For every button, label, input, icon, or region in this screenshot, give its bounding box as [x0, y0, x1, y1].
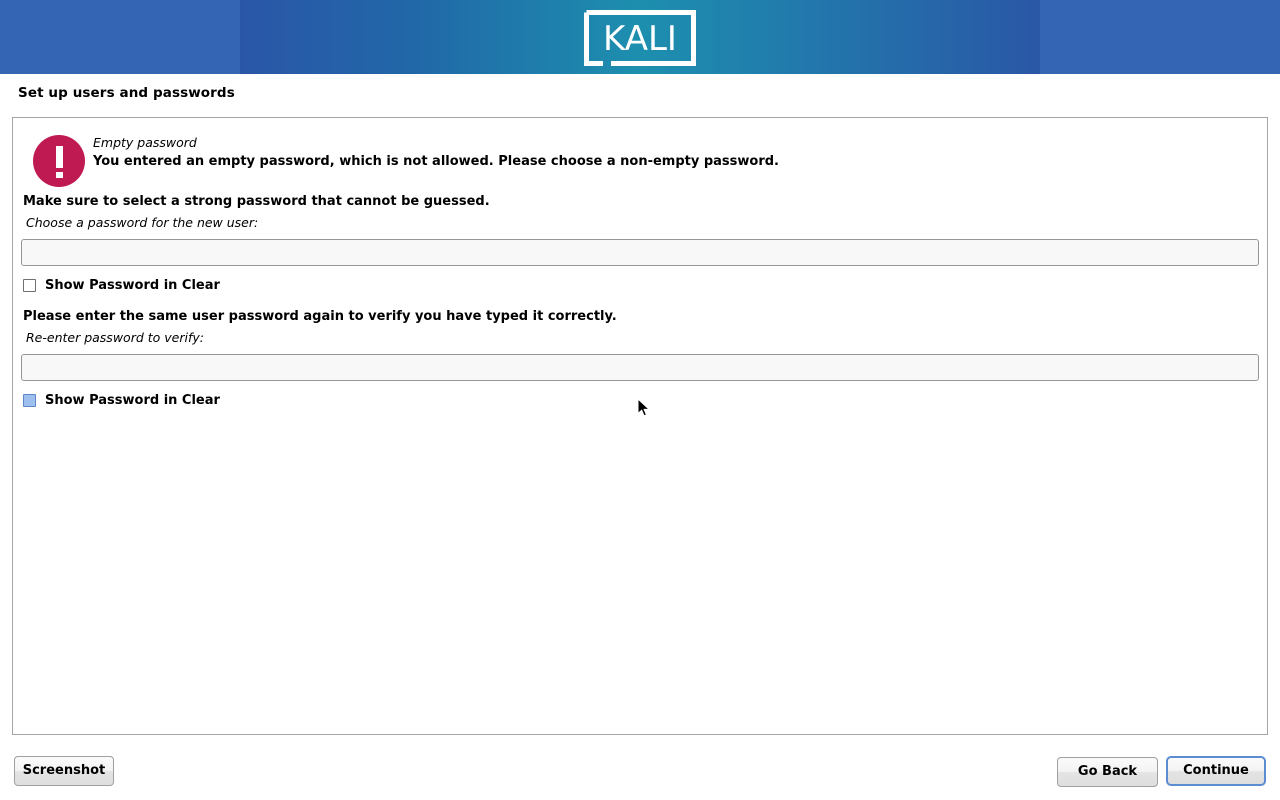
banner-edge-left	[0, 0, 240, 74]
exclamation-dot	[56, 172, 63, 178]
verify-password-input[interactable]	[21, 354, 1259, 381]
password-show-in-clear-row[interactable]: Show Password in Clear	[23, 276, 220, 294]
go-back-button[interactable]: Go Back	[1057, 757, 1158, 787]
exclamation-stem	[56, 146, 63, 168]
kali-logo-text: KALI	[603, 19, 677, 59]
page-title: Set up users and passwords	[18, 85, 235, 101]
password-field-label: Choose a password for the new user:	[26, 215, 258, 230]
banner-edge-right	[1040, 0, 1280, 74]
kali-header-banner: KALI	[0, 0, 1280, 74]
verify-show-in-clear-checkbox[interactable]	[23, 394, 36, 407]
password-show-in-clear-label: Show Password in Clear	[45, 278, 220, 293]
verify-show-in-clear-label: Show Password in Clear	[45, 393, 220, 408]
kali-logo-icon: KALI	[583, 9, 697, 67]
verify-password-heading: Please enter the same user password agai…	[23, 309, 617, 324]
verify-field-label: Re-enter password to verify:	[26, 330, 204, 345]
installer-content-panel: Empty password You entered an empty pass…	[12, 117, 1268, 735]
error-title: Empty password	[93, 135, 197, 150]
screenshot-button[interactable]: Screenshot	[14, 756, 114, 786]
error-message: You entered an empty password, which is …	[93, 154, 779, 169]
continue-button[interactable]: Continue	[1166, 756, 1266, 786]
error-notice: Empty password You entered an empty pass…	[23, 126, 1253, 188]
password-input[interactable]	[21, 239, 1259, 266]
password-show-in-clear-checkbox[interactable]	[23, 279, 36, 292]
verify-show-in-clear-row[interactable]: Show Password in Clear	[23, 391, 220, 409]
password-strength-heading: Make sure to select a strong password th…	[23, 194, 490, 209]
error-exclamation-icon	[33, 135, 85, 187]
